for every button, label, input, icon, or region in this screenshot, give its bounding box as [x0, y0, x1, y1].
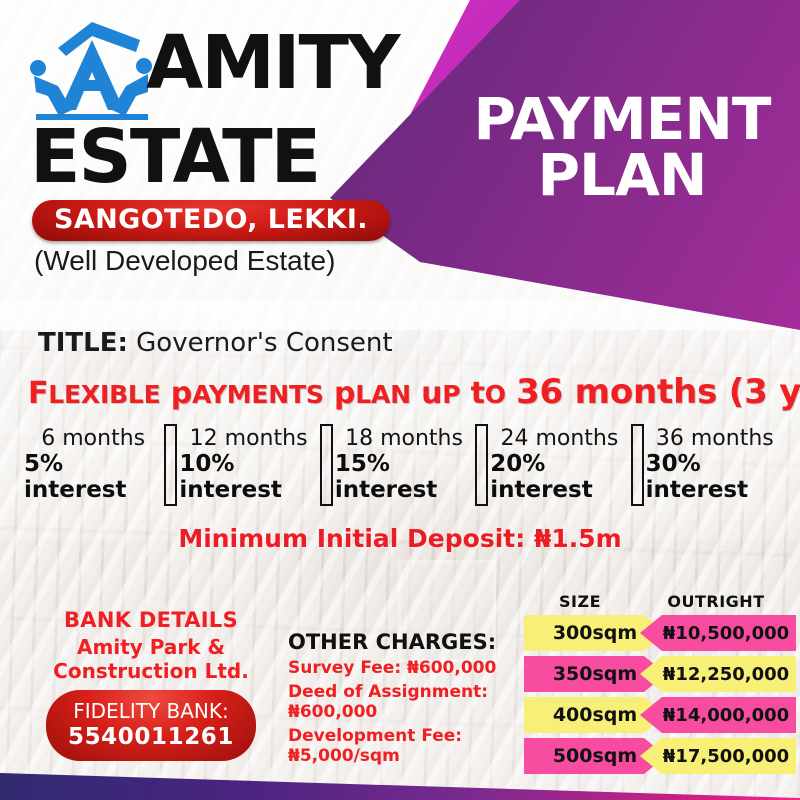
flexible-payments-term: 36 months (3 years)	[516, 372, 800, 412]
minimum-deposit-text: Minimum Initial Deposit: ₦1.5m	[0, 524, 800, 553]
tier-divider	[475, 424, 488, 506]
tier-24-months: 24 months 20% interest	[490, 424, 628, 504]
tier-divider	[320, 424, 333, 506]
amity-house-people-logo-icon	[28, 14, 158, 126]
brand-tagline: (Well Developed Estate)	[34, 245, 408, 277]
other-charges-heading: OTHER CHARGES:	[288, 630, 538, 654]
tier-divider	[631, 424, 644, 506]
price-table-header: SIZE OUTRIGHT	[524, 592, 796, 615]
price-row-price: ₦12,250,000	[663, 664, 789, 685]
tier-months: 6 months	[41, 426, 145, 451]
charge-item-deed-of-assignment: Deed of Assignment: ₦600,000	[288, 682, 538, 722]
price-table-row: 300sqm ₦10,500,000	[524, 615, 796, 651]
price-table-row: 400sqm ₦14,000,000	[524, 697, 796, 733]
bank-name: FIDELITY BANK:	[46, 699, 256, 723]
price-row-price: ₦17,500,000	[663, 746, 789, 767]
title-row: TITLE: Governor's Consent	[38, 328, 393, 358]
page-title-line2: PLAN	[452, 148, 792, 204]
bank-account-badge: FIDELITY BANK: 5540011261	[46, 690, 256, 761]
charge-item-survey-fee: Survey Fee: ₦600,000	[288, 658, 538, 678]
tier-months: 36 months	[656, 426, 774, 451]
price-table-col-outright: OUTRIGHT	[636, 592, 796, 611]
price-row-size: 300sqm	[553, 622, 637, 644]
brand-logo-block: AMITY ESTATE SANGOTEDO, LEKKI. (Well Dev…	[28, 14, 408, 277]
charge-item-development-fee: Development Fee: ₦5,000/sqm	[288, 726, 538, 766]
price-row-price: ₦14,000,000	[663, 705, 789, 726]
bank-account-number: 5540011261	[46, 724, 256, 750]
price-row-price-chevron: ₦17,500,000	[640, 738, 796, 774]
other-charges-block: OTHER CHARGES: Survey Fee: ₦600,000 Deed…	[288, 630, 538, 766]
bank-details-heading: BANK DETAILS	[18, 608, 284, 632]
page-title: PAYMENT PLAN	[452, 92, 792, 203]
bank-details-block: BANK DETAILS Amity Park & Construction L…	[18, 608, 284, 761]
price-table-col-size: SIZE	[524, 592, 636, 611]
payment-plan-flyer: PAYMENT PLAN AMITY ESTATE SANGOTEDO, LEK…	[0, 0, 800, 800]
tier-interest: 15% interest	[335, 451, 473, 503]
location-badge: SANGOTEDO, LEKKI.	[32, 200, 390, 241]
tier-12-months: 12 months 10% interest	[179, 424, 317, 504]
price-row-price-chevron: ₦14,000,000	[640, 697, 796, 733]
brand-name-line2: ESTATE	[30, 120, 408, 194]
price-row-price-chevron: ₦12,250,000	[640, 656, 796, 692]
payment-tier-row: 6 months 5% interest 12 months 10% inter…	[24, 424, 784, 504]
flexible-payments-headline: Flexible payments plan up to 36 months (…	[28, 372, 794, 412]
price-row-price: ₦10,500,000	[663, 623, 789, 644]
title-label: TITLE:	[38, 328, 128, 358]
price-row-size: 400sqm	[553, 704, 637, 726]
tier-18-months: 18 months 15% interest	[335, 424, 473, 504]
price-table-row: 500sqm ₦17,500,000	[524, 738, 796, 774]
price-row-size: 500sqm	[553, 745, 637, 767]
price-row-size: 350sqm	[553, 663, 637, 685]
tier-months: 18 months	[345, 426, 463, 451]
tier-interest: 5% interest	[24, 451, 162, 503]
tier-interest: 20% interest	[490, 451, 628, 503]
price-row-price-chevron: ₦10,500,000	[640, 615, 796, 651]
price-table: SIZE OUTRIGHT 300sqm ₦10,500,000 350sqm …	[524, 592, 796, 779]
tier-interest: 30% interest	[646, 451, 784, 503]
title-value: Governor's Consent	[136, 328, 392, 358]
tier-6-months: 6 months 5% interest	[24, 424, 162, 504]
tier-months: 12 months	[190, 426, 308, 451]
tier-interest: 10% interest	[179, 451, 317, 503]
tier-divider	[164, 424, 177, 506]
price-table-row: 350sqm ₦12,250,000	[524, 656, 796, 692]
tier-months: 24 months	[500, 426, 618, 451]
tier-36-months: 36 months 30% interest	[646, 424, 784, 504]
brand-name-line1: AMITY	[146, 26, 399, 100]
bank-company-name: Amity Park & Construction Ltd.	[18, 635, 284, 683]
